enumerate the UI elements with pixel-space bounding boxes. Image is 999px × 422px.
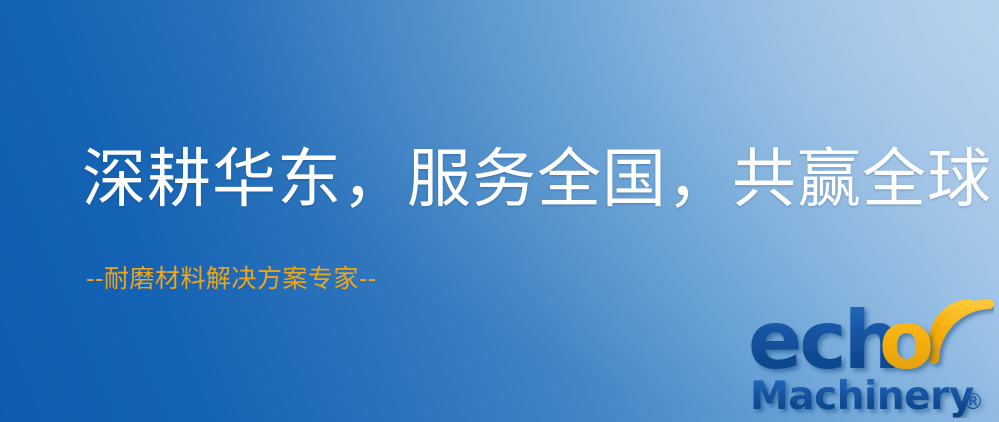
- logo-registered-mark: ®: [962, 390, 984, 415]
- echo-machinery-logo[interactable]: ech o Machinery ® echo Machinery: [748, 296, 994, 418]
- promo-banner: 深耕华东，服务全国，共赢全球 --耐磨材料解决方案专家--: [0, 0, 999, 422]
- wifi-signal-icon: [934, 304, 989, 359]
- logo-tagline: Machinery: [750, 374, 974, 418]
- logo-artwork: ech o Machinery ®: [748, 296, 994, 418]
- banner-subheadline: --耐磨材料解决方案专家--: [86, 266, 377, 291]
- banner-headline: 深耕华东，服务全国，共赢全球: [82, 148, 992, 212]
